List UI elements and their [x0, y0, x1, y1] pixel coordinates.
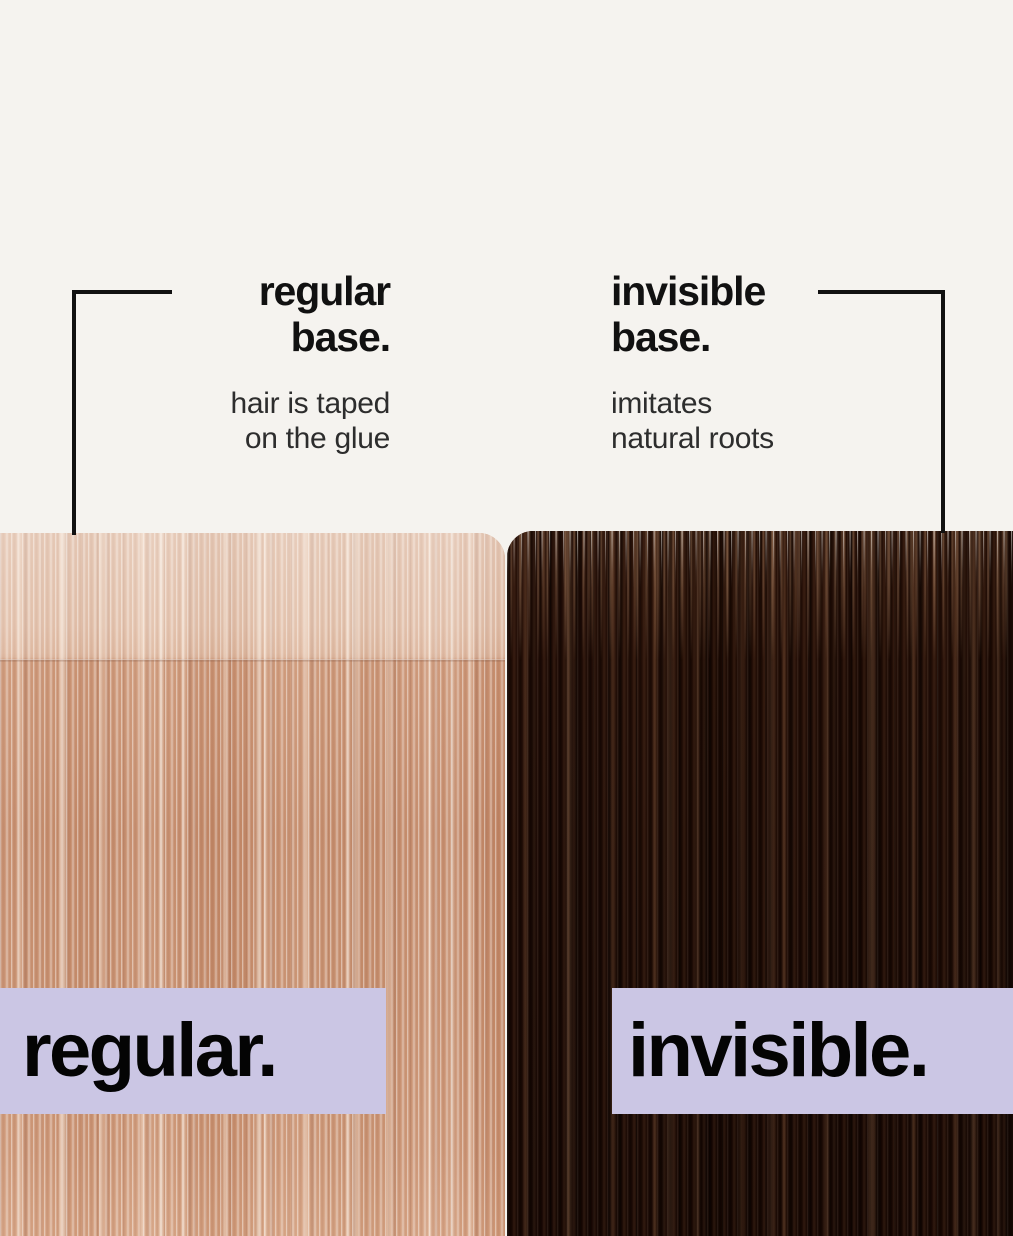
brown-hair-texture: [507, 531, 1013, 1236]
callout-regular-heading: regular base.: [150, 268, 390, 360]
callout-invisible-base: invisible base. imitates natural roots: [611, 268, 871, 456]
hair-swatch-invisible: [507, 531, 1013, 1236]
hair-swatch-regular: [0, 533, 505, 1236]
product-comparison-graphic: regular base. hair is taped on the glue …: [0, 0, 1013, 1236]
bracket-vertical-segment: [72, 290, 76, 535]
callout-regular-subtext: hair is taped on the glue: [150, 386, 390, 456]
callout-invisible-heading: invisible base.: [611, 268, 871, 360]
label-chip-invisible: invisible.: [612, 988, 1013, 1114]
label-chip-regular-text: regular.: [22, 1013, 276, 1089]
callout-invisible-subtext: imitates natural roots: [611, 386, 871, 456]
blonde-hair-texture: [0, 533, 505, 1236]
callout-regular-base: regular base. hair is taped on the glue: [150, 268, 390, 456]
label-chip-regular: regular.: [0, 988, 386, 1114]
label-chip-invisible-text: invisible.: [628, 1013, 927, 1089]
bracket-vertical-segment: [941, 290, 945, 533]
